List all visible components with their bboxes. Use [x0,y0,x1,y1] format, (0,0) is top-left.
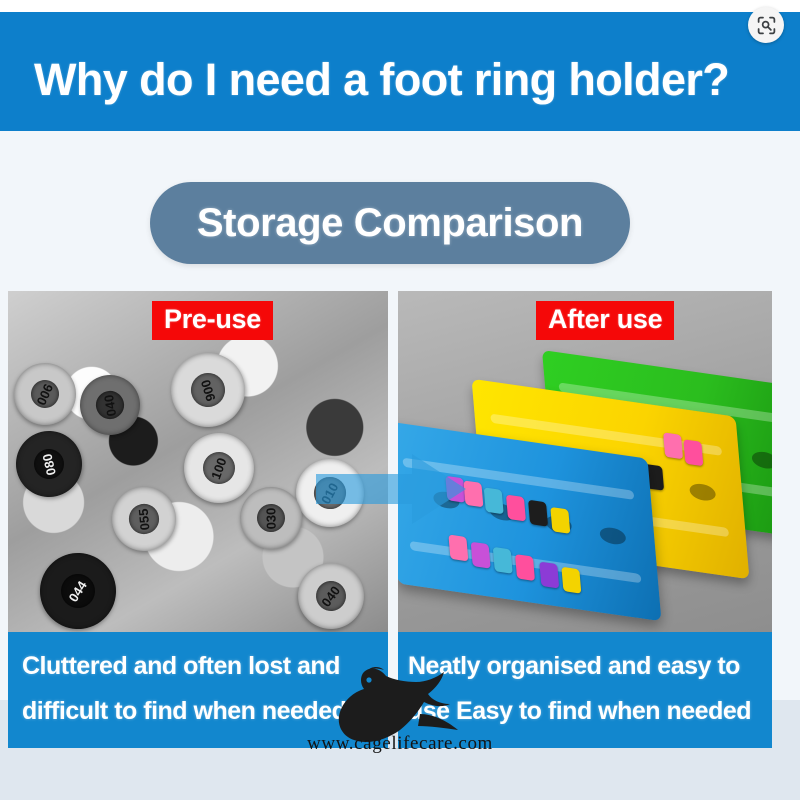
leg-ring: 080 [8,419,94,510]
google-lens-button[interactable] [748,7,784,43]
leg-ring: 900 [156,338,259,441]
top-white-strip [0,0,800,12]
comparison-panel-after-use: After use Neatly organised and easy to u… [398,291,772,748]
pre-use-photo: 900100080006040010055044030040 [8,291,388,632]
leg-ring-number: 900 [198,377,219,402]
storage-comparison-pill: Storage Comparison [150,182,630,264]
leg-ring: 006 [11,360,79,428]
leg-ring-number: 100 [208,455,230,481]
leg-ring: 040 [70,365,151,446]
leg-ring-number: 055 [136,508,153,531]
storage-comparison-label: Storage Comparison [197,201,583,246]
badge-pre-use: Pre-use [152,301,273,340]
caption-after-use: Neatly organised and easy to use Easy to… [398,632,772,748]
caption-pre-use: Cluttered and often lost and difficult t… [8,632,388,748]
leg-ring-number: 030 [263,507,278,529]
header-banner: Why do I need a foot ring holder? [0,12,800,131]
page-title: Why do I need a foot ring holder? [34,56,774,103]
product-infographic: Why do I need a foot ring holder? Storag… [0,0,800,800]
leg-ring-number: 080 [39,452,58,477]
after-use-photo [398,291,772,632]
leg-ring: 100 [183,432,255,504]
leg-ring: 044 [32,545,124,632]
leg-ring-number: 040 [319,583,344,609]
leg-ring-number: 044 [66,578,90,604]
google-lens-icon [756,15,777,36]
leg-ring: 040 [289,554,372,632]
leg-ring-number: 010 [318,480,341,506]
badge-after-use: After use [536,301,674,340]
leg-ring: 010 [291,454,370,533]
comparison-panel-pre-use: 900100080006040010055044030040 Pre-use C… [8,291,388,748]
leg-ring: 055 [102,477,186,561]
leg-ring-number: 040 [101,393,119,417]
watermark-url: www.cagelifecare.com [0,733,800,755]
leg-ring-number: 006 [34,381,57,407]
